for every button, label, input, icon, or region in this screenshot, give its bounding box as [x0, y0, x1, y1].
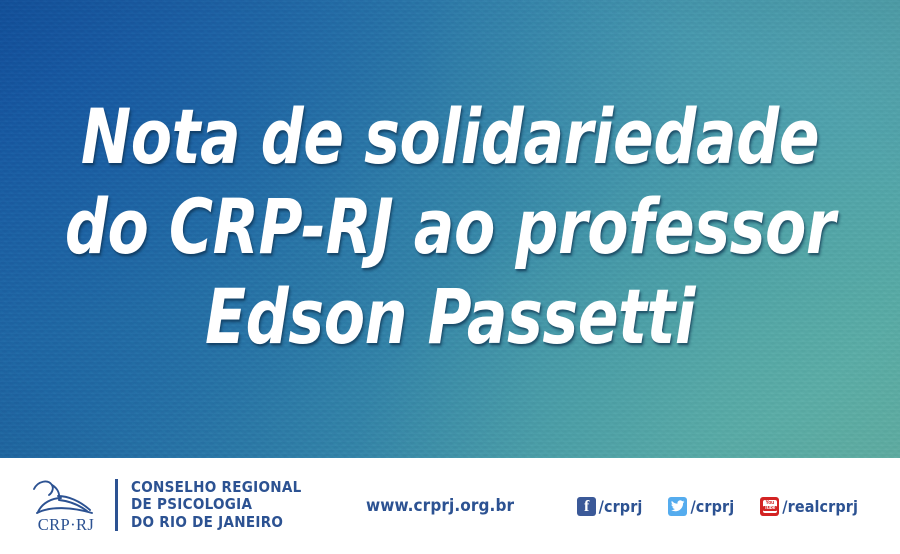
social-link-youtube[interactable]: You Tube /realcrprj [760, 497, 858, 516]
headline-line-2: do CRP-RJ ao professor [54, 182, 846, 272]
website-url[interactable]: www.crprj.org.br [366, 458, 514, 554]
youtube-handle: /realcrprj [782, 497, 858, 516]
facebook-icon: f [577, 497, 596, 516]
headline-line-3: Edson Passetti [54, 272, 846, 362]
organization-line-1: CONSELHO REGIONAL [131, 479, 302, 497]
crp-rj-wordmark: CRP·RJ [38, 515, 95, 534]
organization-line-3: DO RIO DE JANEIRO [131, 514, 302, 532]
organization-name: CONSELHO REGIONAL DE PSICOLOGIA DO RIO D… [131, 479, 307, 532]
twitter-icon [668, 497, 687, 516]
brand-lockup: CRP·RJ CONSELHO REGIONAL DE PSICOLOGIA D… [28, 474, 307, 536]
twitter-handle: /crprj [690, 497, 734, 516]
social-links: f /crprj /crprj You [577, 458, 858, 554]
facebook-handle: /crprj [599, 497, 643, 516]
youtube-icon: You Tube [760, 497, 779, 516]
social-link-twitter[interactable]: /crprj [668, 497, 734, 516]
headline: Nota de solidariedade do CRP-RJ ao profe… [0, 92, 900, 362]
crp-rj-logo-icon: CRP·RJ [28, 476, 104, 534]
headline-line-1: Nota de solidariedade [54, 92, 846, 182]
brand-divider [115, 479, 118, 531]
social-link-facebook[interactable]: f /crprj [577, 497, 643, 516]
youtube-label-bottom: Tube [763, 506, 777, 511]
footer-bar: CRP·RJ CONSELHO REGIONAL DE PSICOLOGIA D… [0, 458, 900, 554]
organization-line-2: DE PSICOLOGIA [131, 496, 302, 514]
poster-canvas: Nota de solidariedade do CRP-RJ ao profe… [0, 0, 900, 554]
